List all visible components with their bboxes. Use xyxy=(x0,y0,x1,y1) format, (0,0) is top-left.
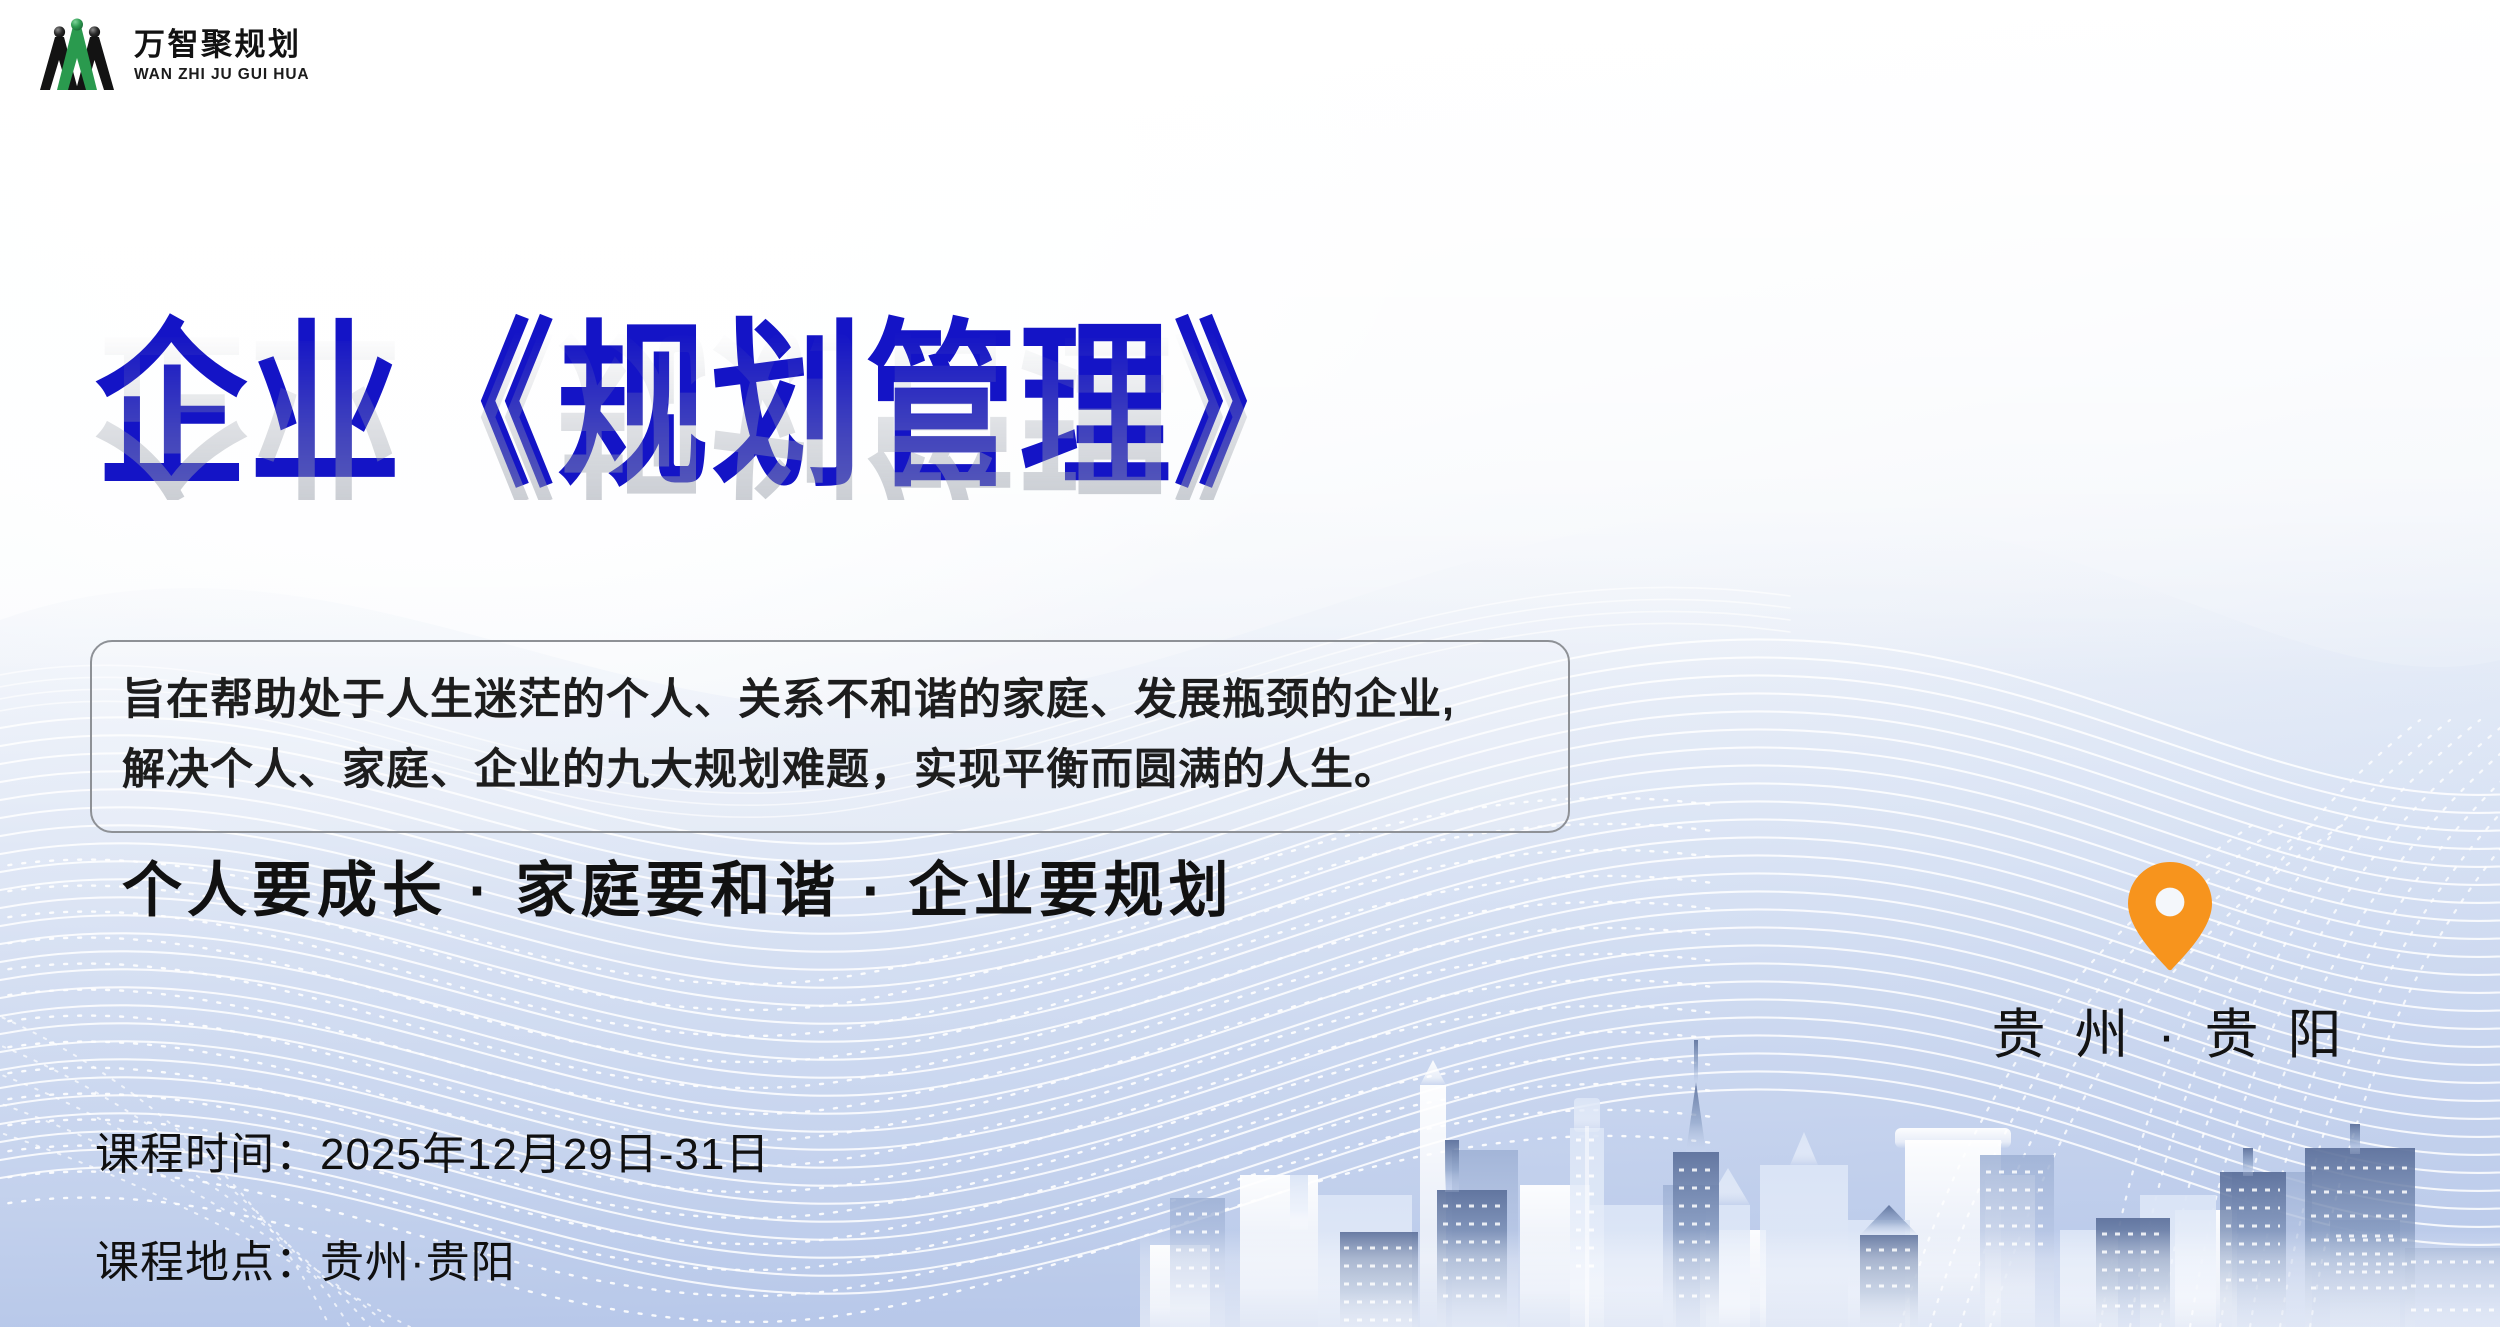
course-place-line: 课程地点：贵州·贵阳 xyxy=(95,1226,770,1290)
footer-info: 课程时间：2025年12月29日-31日 课程地点：贵州·贵阳 xyxy=(95,1118,770,1290)
course-time-line: 课程时间：2025年12月29日-31日 xyxy=(95,1118,770,1182)
brand-name-cn: 万智聚规划 xyxy=(134,29,310,60)
slogan-text: 个人要成长 · 家庭要和谐 · 企业要规划 xyxy=(122,842,1234,929)
brand-logo[interactable]: 万智聚规划 WAN ZHI JU GUI HUA xyxy=(34,16,310,96)
brand-name-block: 万智聚规划 WAN ZHI JU GUI HUA xyxy=(134,29,310,83)
three-people-logo-icon xyxy=(34,16,120,96)
page-title-reflection: 企业《规划管理》 xyxy=(95,321,1327,500)
description-box: 旨在帮助处于人生迷茫的个人、关系不和谐的家庭、发展瓶颈的企业, 解决个人、家庭、… xyxy=(90,640,1570,833)
location-badge: 贵 州 · 贵 阳 xyxy=(1960,860,2380,1069)
location-pin-icon xyxy=(2126,860,2214,972)
location-label: 贵 州 · 贵 阳 xyxy=(1992,990,2349,1069)
poster-canvas: 万智聚规划 WAN ZHI JU GUI HUA 企业《规划管理》 企业《规划管… xyxy=(0,0,2500,1327)
brand-name-pinyin: WAN ZHI JU GUI HUA xyxy=(134,67,310,83)
description-line-1: 旨在帮助处于人生迷茫的个人、关系不和谐的家庭、发展瓶颈的企业, xyxy=(122,666,1538,736)
hero-title-zone: 企业《规划管理》 企业《规划管理》 xyxy=(95,318,1327,470)
description-line-2: 解决个人、家庭、企业的九大规划难题，实现平衡而圆满的人生。 xyxy=(122,736,1538,806)
